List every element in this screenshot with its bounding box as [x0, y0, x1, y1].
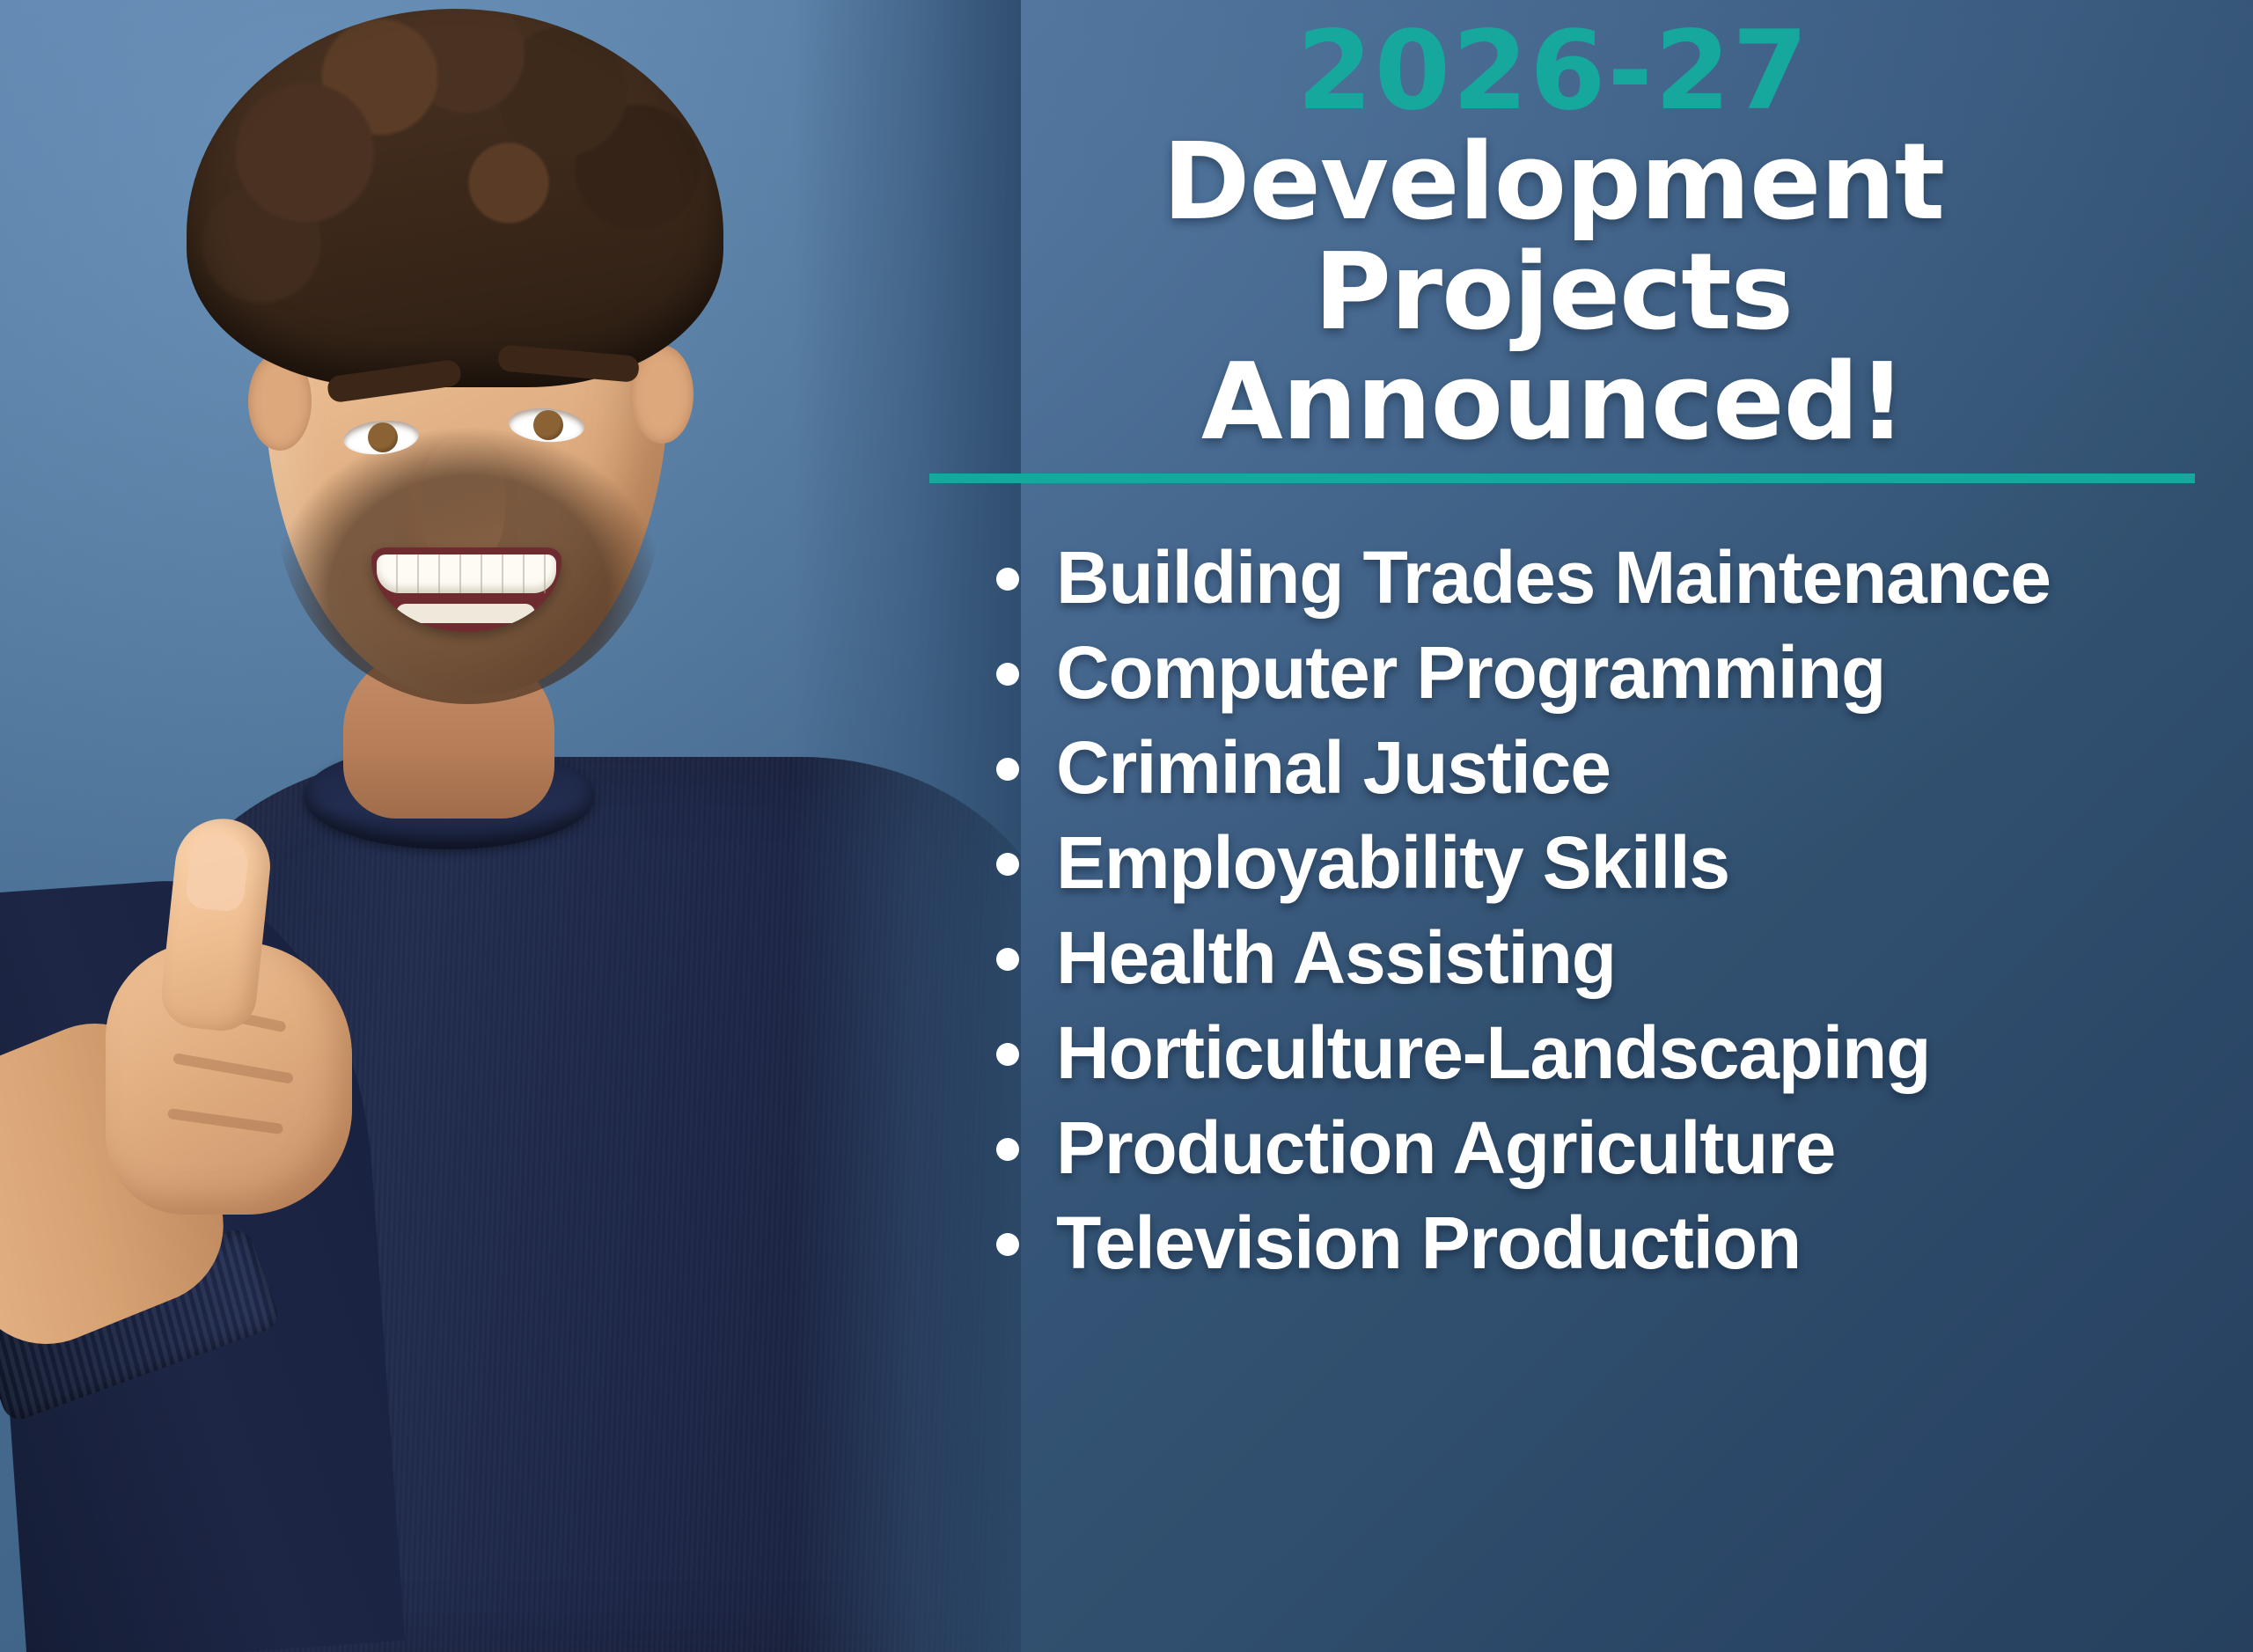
bullet-icon [996, 663, 1019, 686]
project-label: Production Agriculture [1056, 1109, 1835, 1187]
list-item: Television Production [996, 1204, 2253, 1282]
list-item: Production Agriculture [996, 1109, 2253, 1187]
list-item: Building Trades Maintenance [996, 539, 2253, 617]
list-item: Computer Programming [996, 634, 2253, 712]
upper-teeth [377, 554, 556, 593]
project-label: Television Production [1056, 1204, 1801, 1282]
teal-divider-rule [929, 474, 2195, 483]
headline-line-1: Development [915, 128, 2191, 239]
subject-photo [0, 0, 1021, 1652]
content-panel: 2026-27 Development Projects Announced! … [915, 0, 2253, 1652]
project-label: Health Assisting [1056, 919, 1616, 997]
list-item: Criminal Justice [996, 729, 2253, 807]
bullet-icon [996, 853, 1019, 876]
school-year-label: 2026-27 [915, 16, 2191, 127]
project-label: Computer Programming [1056, 634, 1885, 712]
iris-right [533, 410, 563, 440]
iris-left [368, 422, 398, 452]
project-list: Building Trades Maintenance Computer Pro… [996, 539, 2253, 1299]
project-label: Criminal Justice [1056, 729, 1611, 807]
headline-line-2: Projects [915, 239, 2191, 349]
bullet-icon [996, 948, 1019, 971]
project-label: Building Trades Maintenance [1056, 539, 2051, 617]
headline-line-3: Announced! [915, 349, 2191, 459]
lower-teeth [396, 604, 535, 623]
project-label: Employability Skills [1056, 824, 1729, 902]
bullet-icon [996, 758, 1019, 781]
list-item: Health Assisting [996, 919, 2253, 997]
bullet-icon [996, 1043, 1019, 1066]
bullet-icon [996, 1138, 1019, 1161]
list-item: Employability Skills [996, 824, 2253, 902]
bullet-icon [996, 1233, 1019, 1256]
list-item: Horticulture-Landscaping [996, 1014, 2253, 1092]
project-label: Horticulture-Landscaping [1056, 1014, 1930, 1092]
title-block: 2026-27 Development Projects Announced! [915, 16, 2191, 459]
bullet-icon [996, 568, 1019, 591]
smiling-mouth [371, 547, 561, 632]
announcement-poster: 2026-27 Development Projects Announced! … [0, 0, 2253, 1652]
